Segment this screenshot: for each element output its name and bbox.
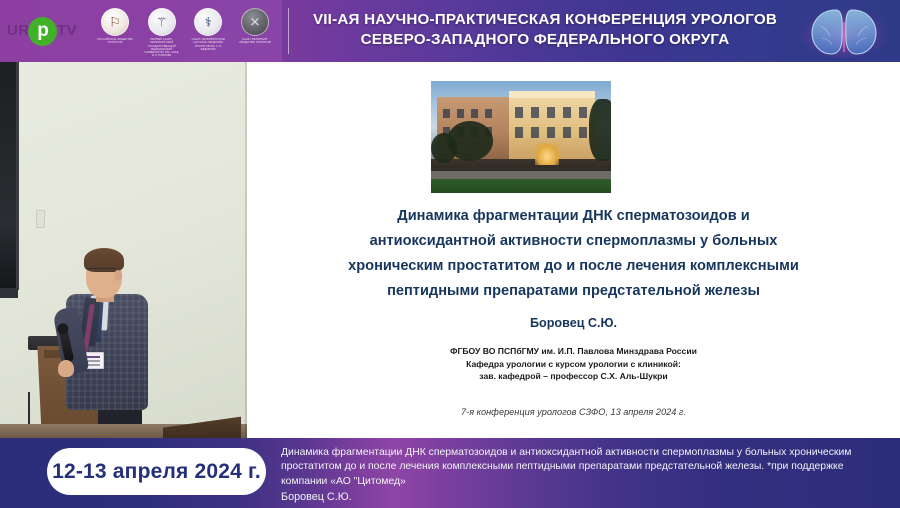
conference-title: VII-АЯ НАУЧНО-ПРАКТИЧЕСКАЯ КОНФЕРЕНЦИЯ У… — [300, 10, 790, 50]
partner-caption-1: РОССИЙСКОЕ ОБЩЕСТВО УРОЛОГОВ — [95, 38, 135, 45]
talk-description: Динамика фрагментации ДНК сперматозоидов… — [281, 446, 881, 489]
conference-date-text: 12-13 апреля 2024 г. — [52, 460, 261, 484]
photo-window — [547, 107, 555, 118]
photo-window — [515, 107, 523, 118]
partner-caption-3: САНКТ-ПЕТЕРБУРГСКОЕ НАУЧНОЕ ОБЩЕСТВО УРО… — [188, 38, 228, 51]
urotv-logo-glyph-icon: р — [34, 21, 52, 42]
speaker-hand — [58, 360, 74, 377]
partner-glyph-4: ✕ — [250, 16, 261, 29]
slide-author-name: Боровец С.Ю. — [271, 315, 876, 331]
photo-window — [579, 107, 587, 118]
partner-caption-4: САНКТ-ПЕТЕРБУРГ ОБЩЕСТВО УРОЛОГОВ — [235, 38, 275, 45]
urotv-logo-right-text: TV — [57, 22, 77, 39]
photo-window — [471, 109, 478, 118]
header-divider — [288, 8, 289, 54]
photo-window — [443, 109, 450, 118]
photo-window — [531, 107, 539, 118]
photo-window — [485, 109, 492, 118]
slide-conference-note: 7-я конференция урологов СЗФО, 13 апреля… — [271, 406, 876, 419]
photo-window — [547, 127, 555, 138]
partner-logos-group: ⚐ РОССИЙСКОЕ ОБЩЕСТВО УРОЛОГОВ ⚚ ПЕРВЫЙ … — [95, 6, 275, 56]
conference-title-line-2: СЕВЕРО-ЗАПАДНОГО ФЕДЕРАЛЬНОГО ОКРУГА — [300, 30, 790, 50]
partner-emblem-4-icon: ✕ — [241, 8, 269, 36]
affiliation-line-3: зав. кафедрой – профессор С.Х. Аль-Шукри — [271, 370, 876, 383]
photo-window — [515, 127, 523, 138]
speaker-video-pane[interactable] — [0, 62, 247, 438]
urotv-logo[interactable]: URO р TV — [4, 16, 88, 46]
slide-title-line-2: антиоксидантной активности спермоплазмы … — [271, 229, 876, 254]
partner-emblem-2-icon: ⚚ — [148, 8, 176, 36]
photo-window — [563, 107, 571, 118]
photo-lawn — [431, 179, 611, 193]
slide-title-line-1: Динамика фрагментации ДНК сперматозоидов… — [271, 204, 876, 229]
partner-glyph-3: ⚕ — [205, 16, 212, 29]
partner-logo-2[interactable]: ⚚ ПЕРВЫЙ САНКТ-ПЕТЕРБУРГСКИЙ ГОСУДАРСТВЕ… — [142, 6, 182, 58]
partner-emblem-3-icon: ⚕ — [194, 8, 222, 36]
projection-screen — [0, 62, 19, 290]
photo-tree — [589, 99, 611, 161]
video-player-frame: URO р TV ⚐ РОССИЙСКОЕ ОБЩЕСТВО УРОЛОГОВ … — [0, 0, 900, 508]
slide-title: Динамика фрагментации ДНК сперматозоидов… — [271, 204, 876, 304]
partner-logo-3[interactable]: ⚕ САНКТ-ПЕТЕРБУРГСКОЕ НАУЧНОЕ ОБЩЕСТВО У… — [188, 6, 228, 51]
speaker-glasses — [86, 268, 116, 277]
speaker-figure — [56, 248, 160, 438]
conference-header-banner: URO р TV ⚐ РОССИЙСКОЕ ОБЩЕСТВО УРОЛОГОВ … — [0, 0, 900, 62]
conference-title-line-1: VII-АЯ НАУЧНО-ПРАКТИЧЕСКАЯ КОНФЕРЕНЦИЯ У… — [313, 11, 777, 28]
affiliation-line-2: Кафедра урологии с курсом урологии с кли… — [271, 358, 876, 371]
talk-speaker-name: Боровец С.Ю. — [281, 490, 352, 504]
presentation-slide[interactable]: Динамика фрагментации ДНК сперматозоидов… — [247, 62, 900, 438]
photo-window — [563, 127, 571, 138]
partner-caption-2: ПЕРВЫЙ САНКТ-ПЕТЕРБУРГСКИЙ ГОСУДАРСТВЕНН… — [142, 38, 182, 58]
photo-window — [579, 127, 587, 138]
university-building-photo — [431, 81, 611, 193]
photo-cornice — [509, 91, 595, 98]
photo-entrance-light — [535, 143, 559, 165]
photo-window — [531, 127, 539, 138]
partner-emblem-1-icon: ⚐ — [101, 8, 129, 36]
partner-glyph-1: ⚐ — [109, 16, 121, 29]
partner-logo-4[interactable]: ✕ САНКТ-ПЕТЕРБУРГ ОБЩЕСТВО УРОЛОГОВ — [235, 6, 275, 45]
slide-affiliation: ФГБОУ ВО ПСПбГМУ им. И.П. Павлова Минздр… — [271, 345, 876, 383]
slide-title-line-3: хроническим простатитом до и после лечен… — [271, 254, 876, 279]
partner-logo-1[interactable]: ⚐ РОССИЙСКОЕ ОБЩЕСТВО УРОЛОГОВ — [95, 6, 135, 45]
photo-window — [457, 109, 464, 118]
photo-road — [431, 171, 611, 179]
slide-title-line-4: пептидными препаратами предстательной же… — [271, 279, 876, 304]
kidneys-illustration-icon — [796, 2, 892, 60]
conference-date-badge: 12-13 апреля 2024 г. — [47, 448, 266, 495]
partner-glyph-2: ⚚ — [156, 16, 168, 29]
talk-description-text: Динамика фрагментации ДНК сперматозоидов… — [281, 446, 881, 489]
affiliation-line-1: ФГБОУ ВО ПСПбГМУ им. И.П. Павлова Минздр… — [271, 345, 876, 358]
wall-plate — [36, 210, 45, 228]
photo-tree — [431, 133, 457, 163]
